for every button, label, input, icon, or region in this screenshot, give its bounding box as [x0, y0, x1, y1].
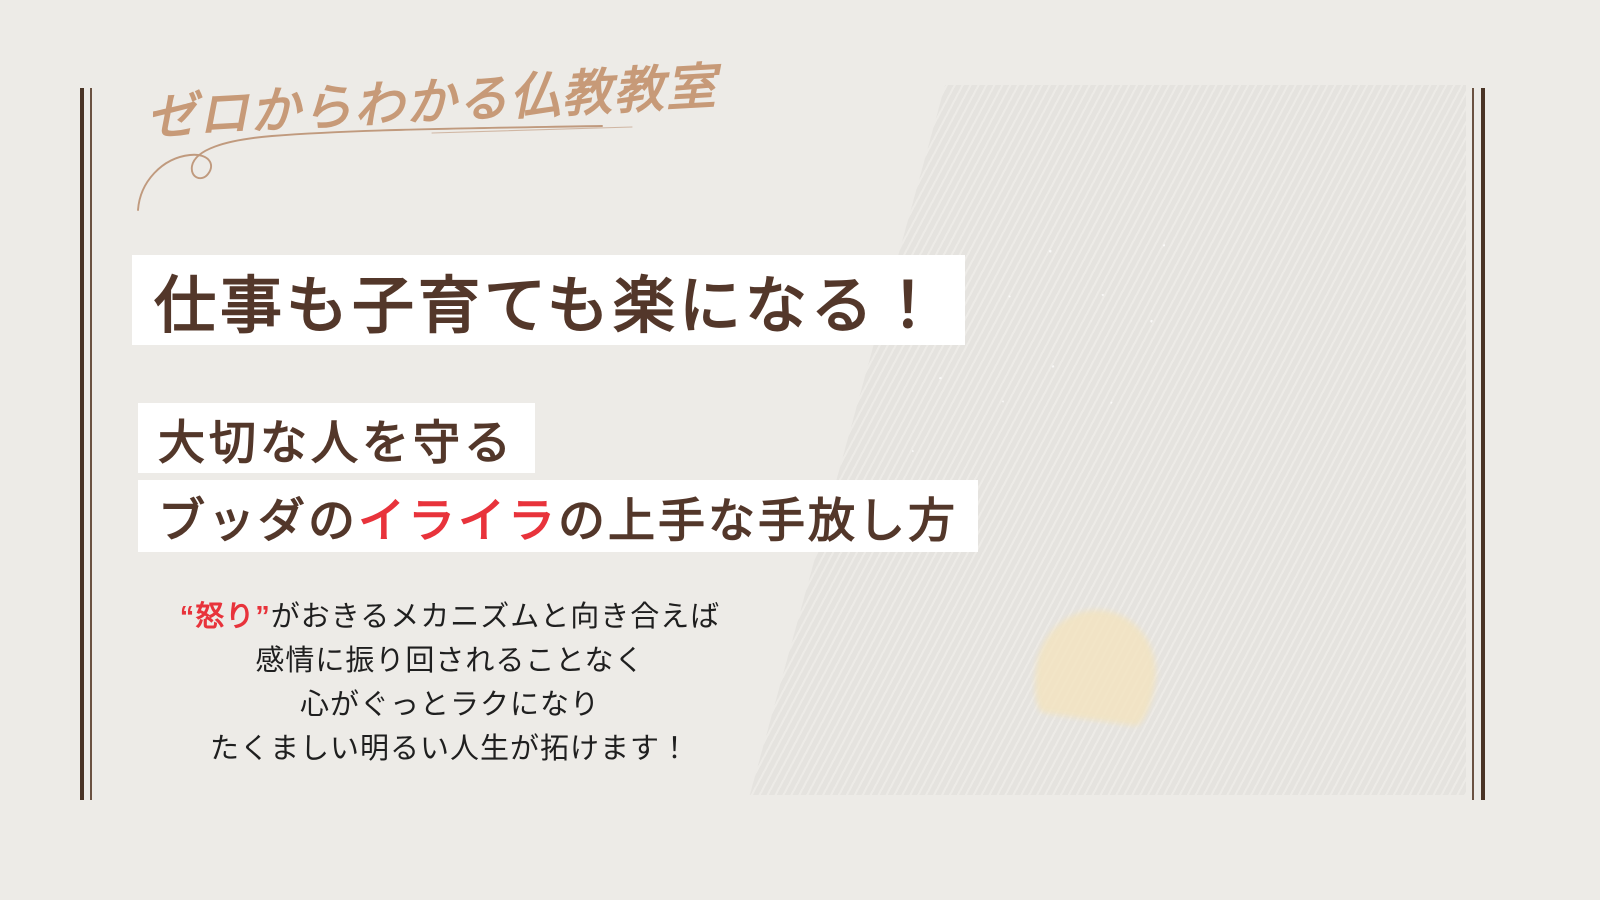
frame-rule-left-thick [80, 88, 84, 800]
headline-band-primary: 仕事も子育ても楽になる！ [132, 255, 965, 345]
frame-rule-right-thick [1481, 88, 1485, 800]
body-copy: “怒り”がおきるメカニズムと向き合えば 感情に振り回されることなく 心がぐっとラ… [100, 595, 800, 771]
headline-tertiary-accent: イライラ [358, 494, 558, 547]
body-copy-line-4: たくましい明るい人生が拓けます！ [100, 727, 800, 771]
body-copy-line-3: 心がぐっとラクになり [100, 683, 800, 727]
headline-tertiary-text: ブッダのイライラの上手な手放し方 [158, 482, 958, 551]
body-copy-accent: “怒り” [180, 601, 271, 633]
frame-rule-left-thin [90, 88, 92, 800]
hero-photo [700, 85, 1466, 795]
frame-rule-right-thin [1472, 88, 1474, 800]
headline-primary-text: 仕事も子育ても楽になる！ [154, 255, 943, 345]
body-copy-line-1: “怒り”がおきるメカニズムと向き合えば [100, 595, 800, 639]
brand-logo: ゼロからわかる仏教教室 [140, 78, 680, 198]
body-copy-line-1-rest: がおきるメカニズムと向き合えば [271, 601, 720, 633]
headline-secondary-text: 大切な人を守る [158, 404, 515, 473]
headline-tertiary-suffix: の上手な手放し方 [558, 494, 958, 547]
brand-name: ゼロからわかる仏教教室 [144, 46, 719, 150]
headline-band-tertiary: ブッダのイライラの上手な手放し方 [138, 480, 978, 552]
body-copy-line-2: 感情に振り回されることなく [100, 639, 800, 683]
headline-band-secondary: 大切な人を守る [138, 403, 535, 473]
promo-banner: ゼロからわかる仏教教室 仕事も子育ても楽になる！ 大切な人を守る ブッダのイライ… [0, 0, 1600, 900]
headline-tertiary-prefix: ブッダの [158, 494, 358, 547]
